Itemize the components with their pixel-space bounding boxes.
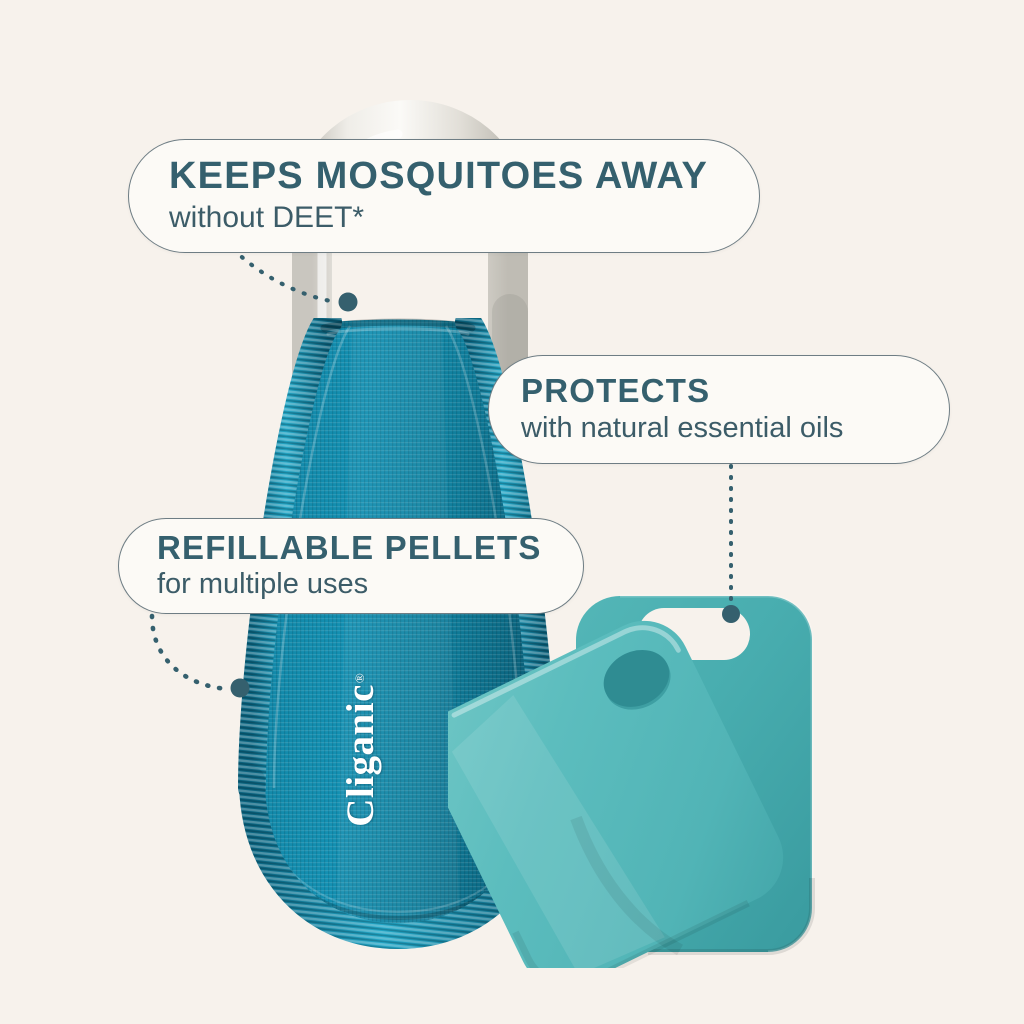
- callout-refillable-pellets: REFILLABLE PELLETS for multiple uses: [118, 518, 584, 614]
- callout-subtitle: without DEET*: [169, 201, 759, 235]
- product-feature-image: Cliganic®: [0, 0, 1024, 1024]
- callout-title: KEEPS MOSQUITOES AWAY: [169, 157, 759, 197]
- callout-keeps-mosquitoes-away: KEEPS MOSQUITOES AWAY without DEET*: [128, 139, 760, 253]
- callout-title: REFILLABLE PELLETS: [157, 531, 583, 565]
- silicone-refill-clip: [448, 578, 820, 968]
- callout-subtitle: with natural essential oils: [521, 412, 949, 444]
- callout-title: PROTECTS: [521, 374, 949, 408]
- callout-protects: PROTECTS with natural essential oils: [488, 355, 950, 464]
- callout-subtitle: for multiple uses: [157, 568, 583, 600]
